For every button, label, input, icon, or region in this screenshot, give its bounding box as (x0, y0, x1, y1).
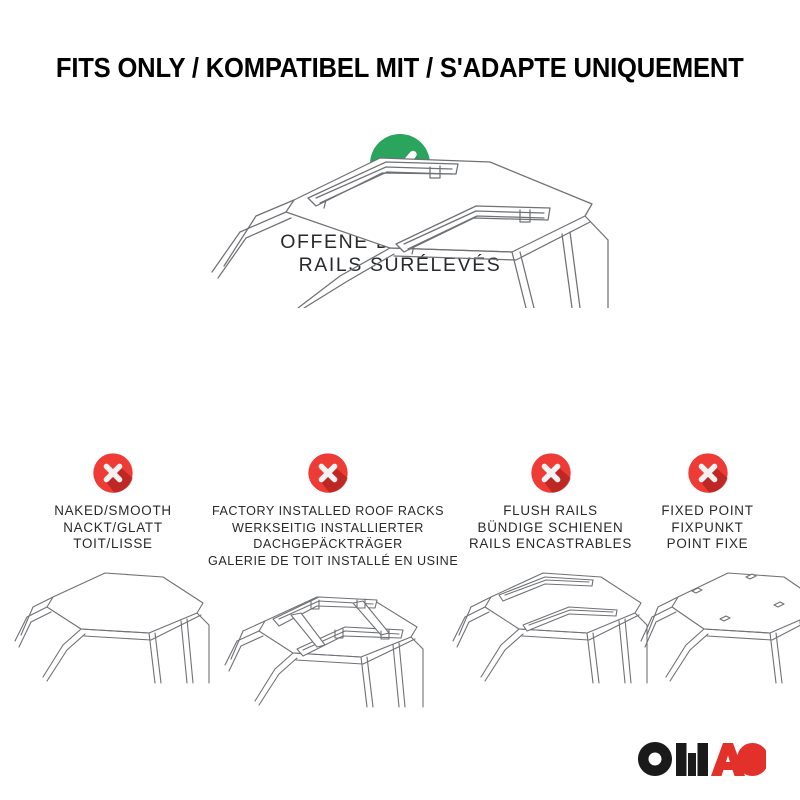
compatible-labels: RAISED RAILS OFFENE DACHRELING RAILS SUR… (0, 208, 800, 277)
incompatible-labels-fixed-point: FIXED POINT FIXPUNKT POINT FIXE (640, 503, 775, 553)
car-roof-bare-illustration (8, 559, 218, 689)
incompatible-item-naked: NAKED/SMOOTH NACKT/GLATT TOIT/LISSE (8, 452, 218, 689)
incompatible-section: NAKED/SMOOTH NACKT/GLATT TOIT/LISSE (0, 452, 800, 702)
cross-circle-icon (530, 452, 572, 494)
label-flush-de: BÜNDIGE SCHIENEN (448, 520, 653, 537)
cross-circle-icon (92, 452, 134, 494)
incompatible-labels-factory-racks: FACTORY INSTALLED ROOF RACKS WERKSEITIG … (208, 503, 448, 569)
omac-logo (638, 742, 766, 776)
page-title-text: FITS ONLY / KOMPATIBEL MIT / S'ADAPTE UN… (56, 52, 744, 84)
label-flush-en: FLUSH RAILS (448, 503, 653, 520)
incompatible-item-flush-rails: FLUSH RAILS BÜNDIGE SCHIENEN RAILS ENCAS… (448, 452, 653, 689)
label-fixed-fr: POINT FIXE (640, 536, 775, 553)
label-naked-fr: TOIT/LISSE (8, 536, 218, 553)
car-roof-with-flush-rails-illustration (448, 559, 653, 689)
car-roof-with-factory-crossbars-illustration (208, 575, 448, 715)
label-factory-fr: GALERIE DE TOIT INSTALLÉ EN USINE (208, 553, 448, 570)
incompatible-item-factory-racks: FACTORY INSTALLED ROOF RACKS WERKSEITIG … (208, 452, 448, 715)
label-fixed-de: FIXPUNKT (640, 520, 775, 537)
label-factory-en: FACTORY INSTALLED ROOF RACKS (208, 503, 448, 520)
incompatible-labels-flush-rails: FLUSH RAILS BÜNDIGE SCHIENEN RAILS ENCAS… (448, 503, 653, 553)
incompatible-labels-naked: NAKED/SMOOTH NACKT/GLATT TOIT/LISSE (8, 503, 218, 553)
compatible-label-de: OFFENE DACHRELING (0, 231, 800, 254)
infographic-page: FITS ONLY / KOMPATIBEL MIT / S'ADAPTE UN… (0, 0, 800, 800)
label-factory-de-2: DACHGEPÄCKTRÄGER (208, 536, 448, 553)
compatible-label-fr: RAILS SURÉLEVÉS (0, 254, 800, 277)
label-naked-de: NACKT/GLATT (8, 520, 218, 537)
check-circle-icon (368, 132, 432, 196)
compatible-section: RAISED RAILS OFFENE DACHRELING RAILS SUR… (0, 132, 800, 277)
cross-circle-icon (687, 452, 729, 494)
compatible-label-en: RAISED RAILS (0, 208, 800, 231)
page-title: FITS ONLY / KOMPATIBEL MIT / S'ADAPTE UN… (0, 52, 800, 84)
label-fixed-en: FIXED POINT (640, 503, 775, 520)
car-roof-with-fixed-points-illustration (640, 559, 775, 689)
cross-circle-icon (307, 452, 349, 494)
label-naked-en: NAKED/SMOOTH (8, 503, 218, 520)
label-factory-de-1: WERKSEITIG INSTALLIERTER (208, 520, 448, 537)
incompatible-item-fixed-point: FIXED POINT FIXPUNKT POINT FIXE (640, 452, 775, 689)
label-flush-fr: RAILS ENCASTRABLES (448, 536, 653, 553)
